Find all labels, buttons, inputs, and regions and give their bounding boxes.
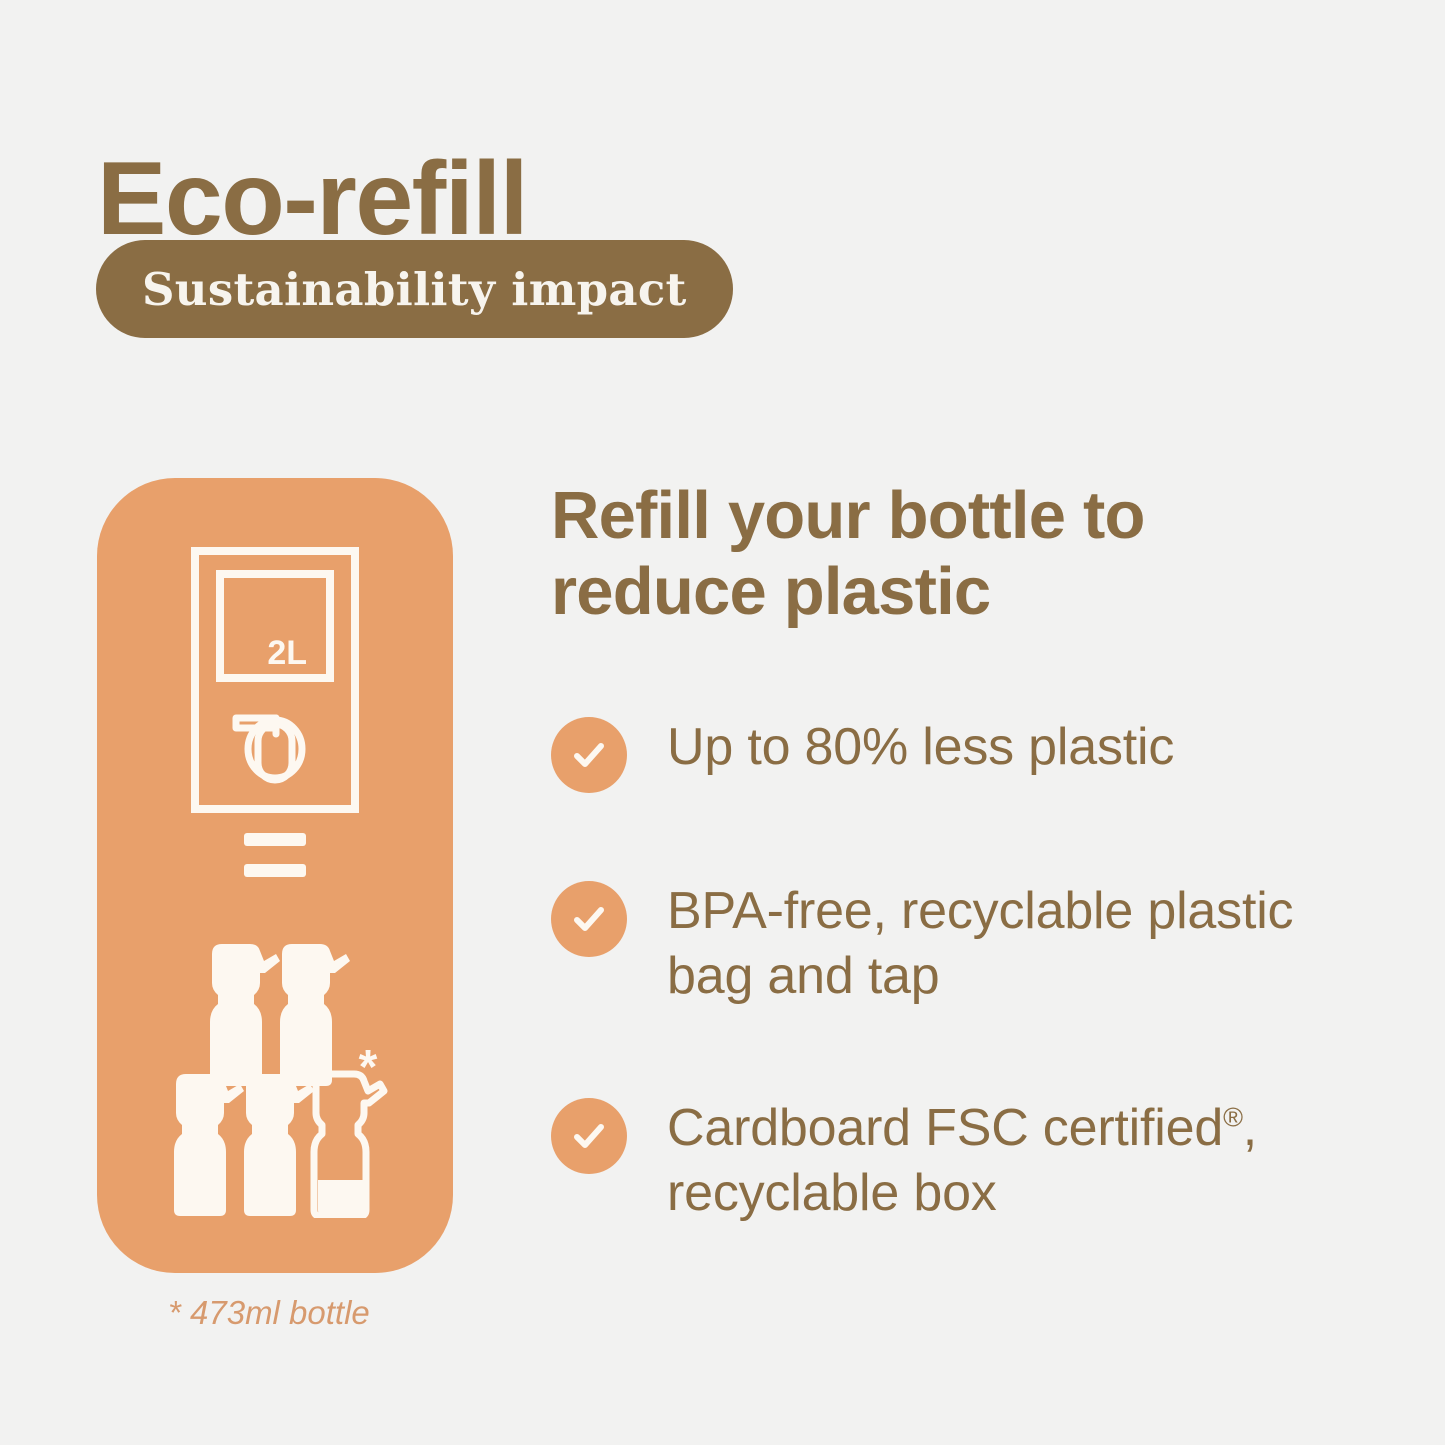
- registered-mark: ®: [1223, 1102, 1243, 1132]
- asterisk-marker: *: [359, 1041, 378, 1094]
- benefit-label: BPA-free, recyclable plastic bag and tap: [667, 879, 1387, 1010]
- equals-bar-bottom: [244, 864, 306, 877]
- check-circle-icon: [551, 1098, 627, 1174]
- page-title: Eco-refill: [97, 145, 527, 254]
- refill-carton-icon: 2L: [190, 546, 360, 819]
- footnote-text: * 473ml bottle: [168, 1294, 370, 1332]
- spray-bottles-group: *: [156, 928, 394, 1223]
- spray-bottle-solid-4: [244, 1074, 314, 1216]
- equals-bar-top: [244, 833, 306, 846]
- tap-icon: [236, 718, 302, 780]
- infographic-page: Eco-refill Sustainability impact 2L: [0, 0, 1445, 1445]
- list-item: BPA-free, recyclable plastic bag and tap: [551, 879, 1401, 1010]
- list-item: Up to 80% less plastic: [551, 715, 1401, 793]
- content-column: Refill your bottle to reduce plastic Up …: [551, 478, 1401, 1227]
- benefit-label: Up to 80% less plastic: [667, 715, 1174, 781]
- illustration-panel: 2L: [97, 478, 453, 1273]
- check-circle-icon: [551, 881, 627, 957]
- spray-bottle-solid-3: [174, 1074, 244, 1216]
- section-subheading: Refill your bottle to reduce plastic: [551, 478, 1271, 631]
- spray-bottle-solid-1: [210, 944, 280, 1086]
- list-item: Cardboard FSC certified®, recyclable box: [551, 1096, 1401, 1227]
- spray-bottle-solid-2: [280, 944, 350, 1086]
- badge-label: Sustainability impact: [142, 263, 687, 316]
- bottle-liquid-fill: [318, 1180, 366, 1216]
- benefits-list: Up to 80% less plastic BPA-free, recycla…: [551, 715, 1401, 1227]
- equals-symbol: [244, 833, 306, 877]
- carton-volume-label: 2L: [267, 634, 307, 672]
- sustainability-impact-badge: Sustainability impact: [96, 240, 733, 338]
- spray-bottle-outline-5: [314, 1074, 384, 1216]
- check-circle-icon: [551, 717, 627, 793]
- benefit-label-main: Cardboard FSC certified: [667, 1099, 1223, 1157]
- benefit-label: Cardboard FSC certified®, recyclable box: [667, 1096, 1387, 1227]
